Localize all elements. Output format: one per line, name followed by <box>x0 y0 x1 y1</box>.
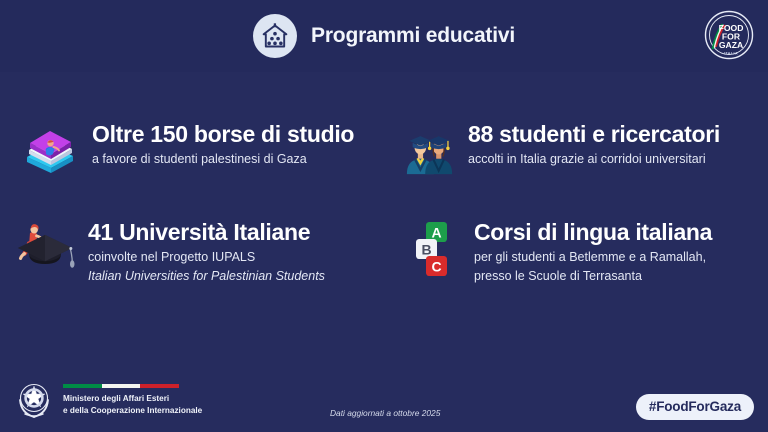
stat-text: 88 studenti e ricercatori accolti in Ita… <box>468 120 720 167</box>
stat-subline-italic: Italian Universities for Palestinian Stu… <box>88 268 325 285</box>
ministry-block: Ministero degli Affari Esteri e della Co… <box>14 378 202 420</box>
stat-headline: 88 studenti e ricercatori <box>468 122 720 148</box>
page-footer: Ministero degli Affari Esteri e della Co… <box>0 368 768 432</box>
stat-subline: per gli studenti a Betlemme e a Ramallah… <box>474 249 712 266</box>
stat-subline: accolti in Italia grazie ai corridoi uni… <box>468 151 720 168</box>
italian-republic-emblem <box>14 378 54 420</box>
stat-text: Corsi di lingua italiana per gli student… <box>474 218 712 285</box>
stats-grid: Oltre 150 borse di studio a favore di st… <box>0 112 768 332</box>
flag-white <box>102 384 141 388</box>
ffg-line3: GAZA <box>719 40 743 50</box>
abc-block-c-label: C <box>431 258 441 274</box>
stat-subline: a favore di studenti palestinesi di Gaza <box>92 151 354 168</box>
ministry-text: Ministero degli Affari Esteri e della Co… <box>63 382 202 416</box>
graduates-icon <box>404 120 456 182</box>
stat-subline-2: presso le Scuole di Terrasanta <box>474 268 712 285</box>
abc-block-a-label: A <box>431 224 441 240</box>
flag-green <box>63 384 102 388</box>
italian-flag-bar <box>63 384 179 388</box>
flag-red <box>140 384 179 388</box>
school-house-icon <box>253 14 297 58</box>
graduation-cap-icon <box>14 218 76 280</box>
stat-studenti-ricercatori: 88 studenti e ricercatori accolti in Ita… <box>404 120 760 182</box>
abc-block-b-label: B <box>421 241 431 257</box>
stat-corsi-lingua-italiana: A B C Corsi di lingua italiana per gli s… <box>410 218 760 285</box>
header-title-group: Programmi educativi <box>253 14 515 58</box>
ffg-line4: ITALIA <box>724 51 738 55</box>
stat-headline: 41 Università Italiane <box>88 220 325 246</box>
page-title: Programmi educativi <box>311 24 515 48</box>
stat-borse-di-studio: Oltre 150 borse di studio a favore di st… <box>18 120 398 182</box>
stat-text: 41 Università Italiane coinvolte nel Pro… <box>88 218 325 285</box>
stat-text: Oltre 150 borse di studio a favore di st… <box>92 120 354 167</box>
abc-blocks-icon: A B C <box>410 218 462 280</box>
ministry-name-line2: e della Cooperazione Internazionale <box>63 405 202 417</box>
stat-headline: Oltre 150 borse di studio <box>92 122 354 148</box>
hashtag-badge[interactable]: #FoodForGaza <box>636 394 754 420</box>
ministry-name-line1: Ministero degli Affari Esteri <box>63 393 202 405</box>
data-update-note: Dati aggiornati a ottobre 2025 <box>330 408 440 418</box>
stat-headline: Corsi di lingua italiana <box>474 220 712 246</box>
food-for-gaza-logo: FOOD FOR GAZA ITALIA <box>702 8 756 62</box>
stat-universita-italiane: 41 Università Italiane coinvolte nel Pro… <box>14 218 394 285</box>
stat-subline: coinvolte nel Progetto IUPALS <box>88 249 325 266</box>
book-stack-icon <box>18 120 80 182</box>
page-header: Programmi educativi <box>0 0 768 72</box>
